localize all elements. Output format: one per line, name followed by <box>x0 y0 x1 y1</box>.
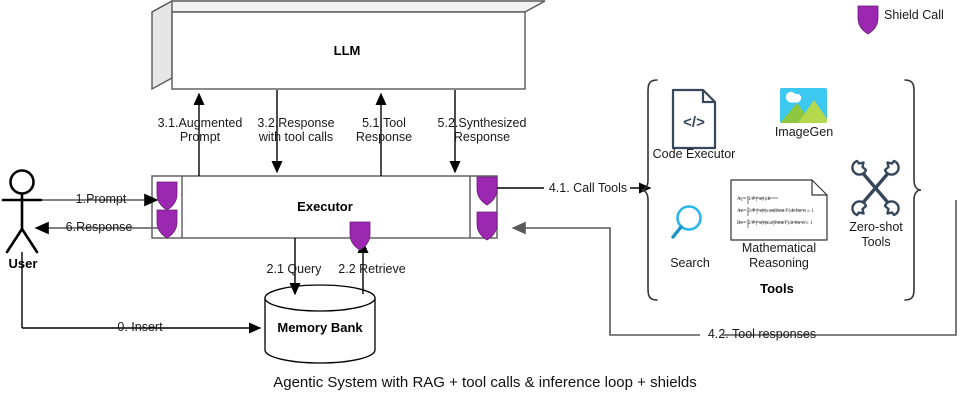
svg-text:Aₙ = 2/P ∫ x(t)cos(2πnt/P)dt: Aₙ = 2/P ∫ x(t)cos(2πnt/P)dt for n ≥ 1 <box>737 207 814 214</box>
legend-label: Shield Call <box>884 8 970 22</box>
llm-label: LLM <box>272 43 422 58</box>
svg-text:</>: </> <box>683 114 705 131</box>
user-stick-figure-icon <box>3 171 41 253</box>
tool-label-zero-shot-tools: Zero-shot Tools <box>838 220 914 250</box>
image-picture-icon <box>780 88 830 123</box>
memory-bank-label: Memory Bank <box>245 320 395 335</box>
tools-group-label: Tools <box>717 281 837 296</box>
svg-text:A₀ = 1/P ∫ x(t)dt: A₀ = 1/P ∫ x(t)dt <box>737 195 771 202</box>
crossed-wrenches-icon <box>852 161 898 215</box>
tool-label-math-reasoning: Mathematical Reasoning <box>724 241 834 271</box>
tool-label-code-executor: Code Executor <box>644 147 744 162</box>
shield-icon-legend <box>858 6 878 34</box>
magnifier-icon <box>673 207 701 238</box>
user-label: User <box>0 256 46 271</box>
edge-label-response: 6.Response <box>49 220 149 234</box>
edge-label-retrieve: 2.2 Retrieve <box>330 262 414 276</box>
diagram-caption: Agentic System with RAG + tool calls & i… <box>0 374 970 391</box>
tools-right-brace <box>905 80 921 300</box>
edge-label-call-tools: 4.1. Call Tools <box>541 181 635 195</box>
executor-label: Executor <box>250 199 400 214</box>
shield-icon-memory <box>350 222 370 250</box>
svg-text:Bₙ = 2/P ∫ x(t)sin(2πnt/P)dt: Bₙ = 2/P ∫ x(t)sin(2πnt/P)dt for n ≥ 1 <box>737 219 813 226</box>
math-document-icon: A₀ = 1/P ∫ x(t)dt Aₙ = 2/P ∫ x(t)cos(2πn… <box>731 180 827 240</box>
edge-label-prompt: 1.Prompt <box>53 192 149 206</box>
tool-label-imagegen: ImageGen <box>763 125 845 140</box>
edge-label-tool-response: 5.1.Tool Response <box>338 116 430 144</box>
diagram-canvas: </> <box>0 0 970 411</box>
edge-label-insert: 0. Insert <box>65 320 215 334</box>
code-document-icon: </> <box>673 90 715 148</box>
edge-insert <box>22 252 260 328</box>
edge-label-tool-responses: 4.2. Tool responses <box>698 327 826 341</box>
edge-label-synthesized-response: 5.2.Synthesized Response <box>425 116 539 144</box>
tool-label-search: Search <box>655 256 725 271</box>
edge-label-query: 2.1 Query <box>258 262 330 276</box>
